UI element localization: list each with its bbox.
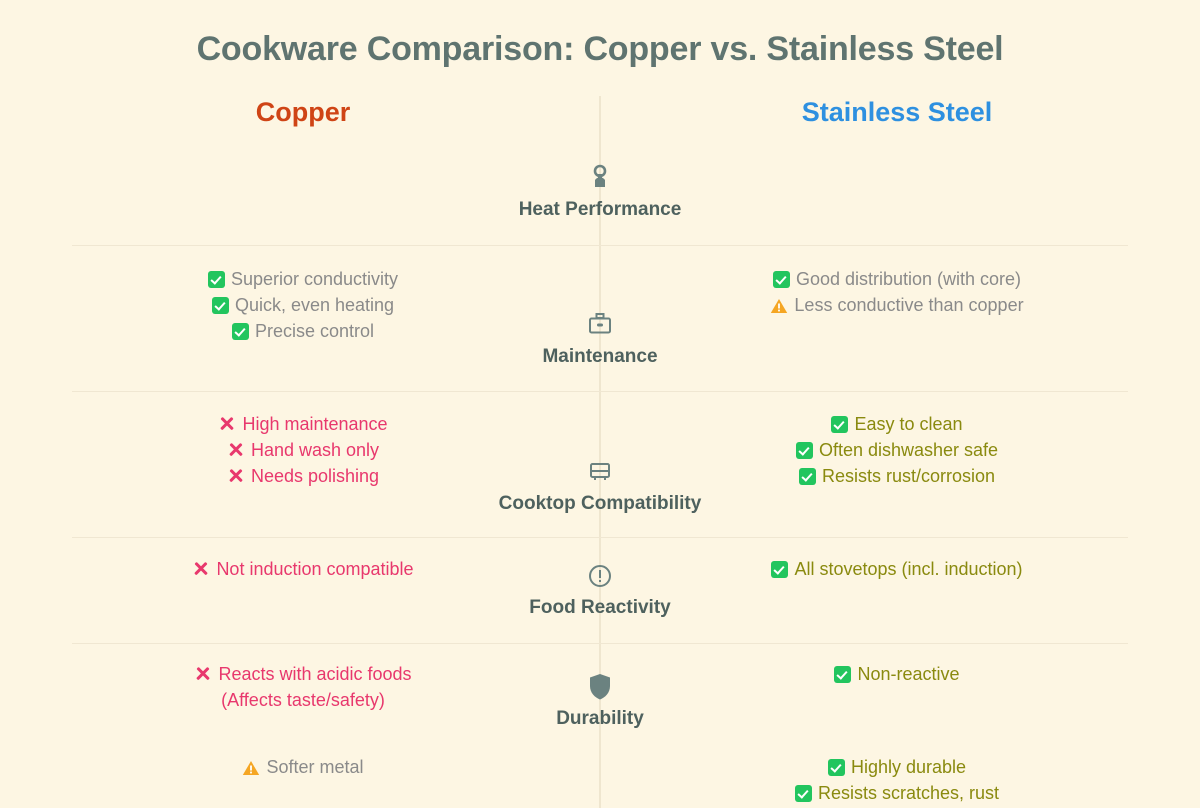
cooktop-icon xyxy=(0,457,1200,487)
x-icon xyxy=(218,415,236,433)
check-icon xyxy=(773,271,790,288)
page-title: Cookware Comparison: Copper vs. Stainles… xyxy=(0,30,1200,69)
check-icon xyxy=(831,416,848,433)
category-label: Durability xyxy=(0,708,1200,730)
column-header-stainless-steel: Stainless Steel xyxy=(666,97,1128,128)
check-icon xyxy=(828,759,845,776)
list-item: Easy to clean xyxy=(666,411,1128,437)
row-divider xyxy=(72,537,1128,538)
category-label: Cooktop Compatibility xyxy=(0,493,1200,515)
row-divider xyxy=(72,245,1128,246)
category-label: Maintenance xyxy=(0,346,1200,368)
items-stainless-durability: Highly durable Resists scratches, rust xyxy=(666,754,1128,806)
items-copper-durability: Softer metal xyxy=(72,754,534,780)
list-item: Resists scratches, rust xyxy=(666,780,1128,806)
category-heat-performance: Heat Performance xyxy=(0,163,1200,221)
category-label: Heat Performance xyxy=(0,199,1200,221)
list-item: Softer metal xyxy=(72,754,534,780)
row-divider xyxy=(72,643,1128,644)
shield-icon xyxy=(0,672,1200,702)
thermometer-icon xyxy=(0,163,1200,193)
list-item: Highly durable xyxy=(666,754,1128,780)
list-item: Superior conductivity xyxy=(72,266,534,292)
warning-icon xyxy=(242,757,260,773)
list-item: Good distribution (with core) xyxy=(666,266,1128,292)
category-food-reactivity: Food Reactivity xyxy=(0,561,1200,619)
category-label: Food Reactivity xyxy=(0,597,1200,619)
alert-circle-icon xyxy=(0,561,1200,591)
category-maintenance: Maintenance xyxy=(0,310,1200,368)
category-durability: Durability xyxy=(0,672,1200,730)
check-icon xyxy=(208,271,225,288)
toolbox-icon xyxy=(0,310,1200,340)
comparison-chart: Cookware Comparison: Copper vs. Stainles… xyxy=(0,0,1200,808)
warning-icon xyxy=(770,295,788,311)
row-divider xyxy=(72,391,1128,392)
list-item: High maintenance xyxy=(72,411,534,437)
category-cooktop-compatibility: Cooktop Compatibility xyxy=(0,457,1200,515)
column-header-copper: Copper xyxy=(72,97,534,128)
check-icon xyxy=(795,785,812,802)
